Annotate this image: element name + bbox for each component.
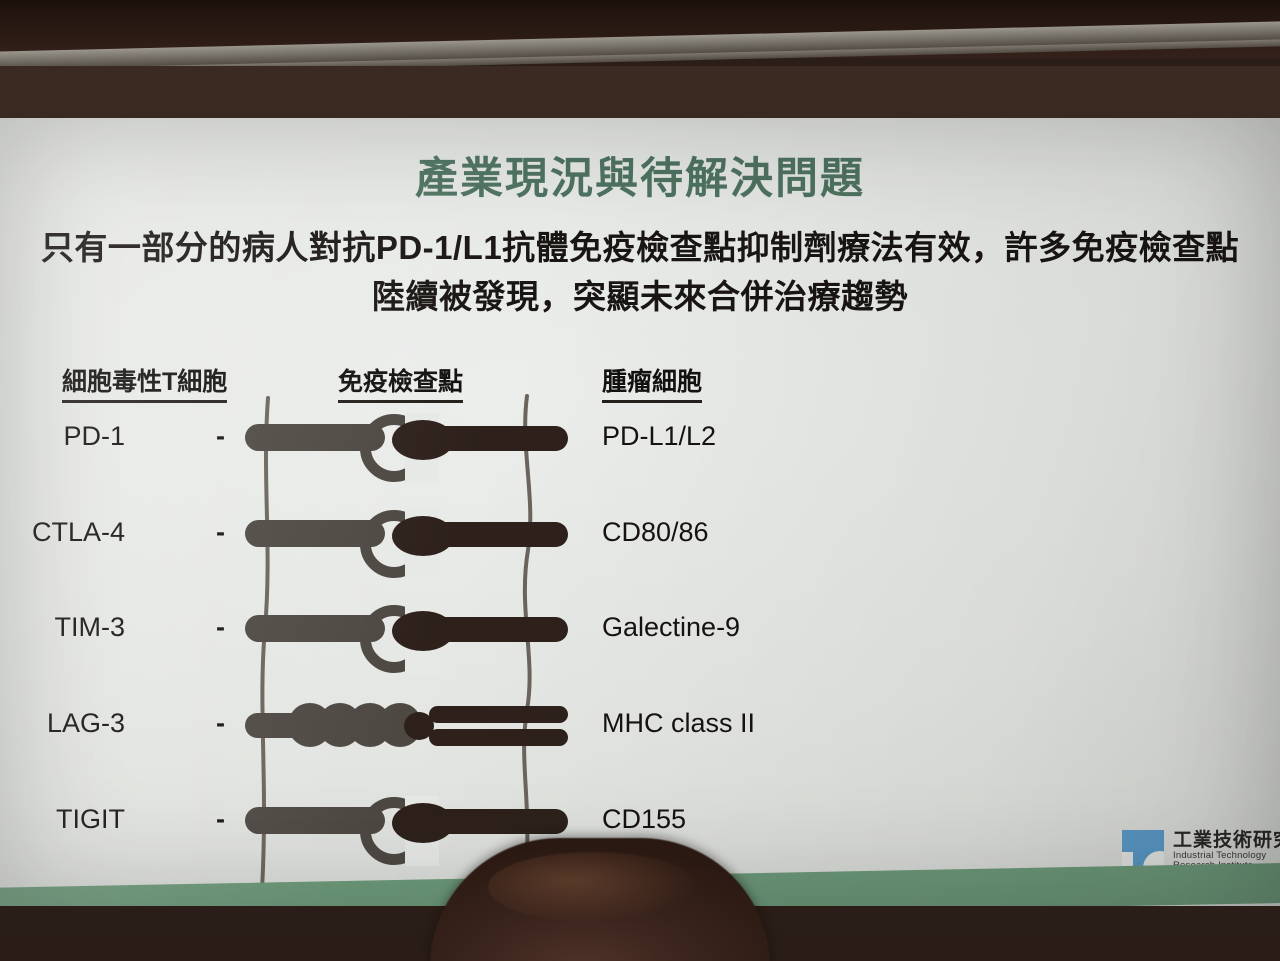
receptor-label-lag3: LAG-3 (0, 708, 125, 739)
receptor-label-tigit: TIGIT (0, 804, 125, 835)
row-dash-tim3: - (216, 612, 225, 643)
hair-highlight (488, 852, 698, 922)
ligand-label-lag3: MHC class II (602, 708, 755, 739)
itri-name-cn: 工業技術研究 (1173, 831, 1280, 851)
row-dash-tigit: - (216, 804, 225, 835)
cell-membrane-lines (0, 118, 1280, 906)
receptor-label-pd1: PD-1 (0, 421, 125, 452)
ligand-bar-upper-lag3 (429, 706, 568, 723)
photographed-presentation-scene: 產業現況與待解決問題 只有一部分的病人對抗PD-1/L1抗體免疫檢查點抑制劑療法… (0, 0, 1280, 961)
checkpoint-pairs-diagram: PD-1 - PD-L1/L2 CTLA-4 - CD80/86 TIM-3 - (0, 118, 1280, 906)
row-dash-lag3: - (216, 708, 225, 739)
ligand-label-pd1: PD-L1/L2 (602, 421, 716, 452)
row-dash-ctla4: - (216, 517, 225, 548)
ligand-stem-pd1 (430, 426, 568, 451)
ligand-label-tim3: Galectine-9 (602, 612, 740, 643)
row-dash-pd1: - (216, 421, 225, 452)
ligand-stem-tim3 (430, 617, 568, 642)
receptor-label-tim3: TIM-3 (0, 612, 125, 643)
receptor-label-ctla4: CTLA-4 (0, 517, 125, 548)
ligand-stem-tigit (430, 809, 568, 834)
ligand-stem-ctla4 (430, 522, 568, 547)
projected-slide: 產業現況與待解決問題 只有一部分的病人對抗PD-1/L1抗體免疫檢查點抑制劑療法… (0, 118, 1280, 906)
ligand-bar-lower-lag3 (429, 729, 568, 746)
ligand-label-tigit: CD155 (602, 804, 686, 835)
ligand-label-ctla4: CD80/86 (602, 517, 709, 548)
